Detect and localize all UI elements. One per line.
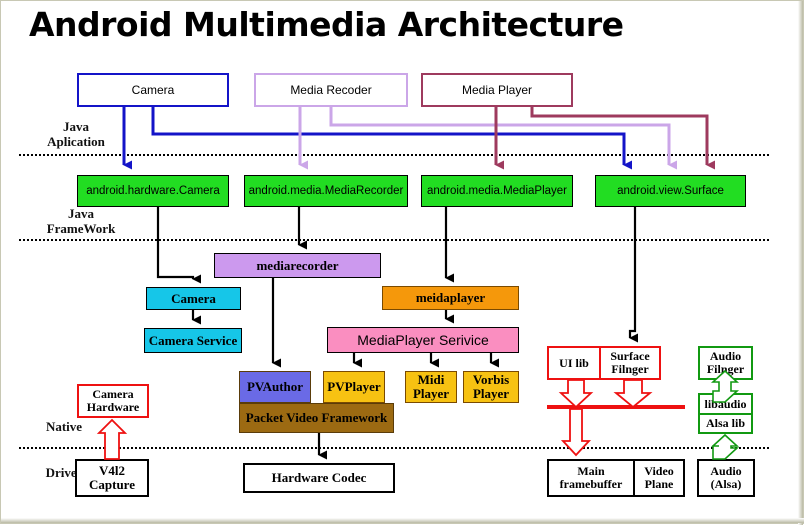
framework-box-android-media-mediaplayer[interactable]: android.media.MediaPlayer bbox=[421, 175, 573, 207]
native-box-label-line2: Hardware bbox=[87, 401, 139, 414]
driver-box-main-framebuffer[interactable]: Main framebuffer bbox=[549, 461, 635, 495]
framework-box-label: android.view.Surface bbox=[617, 185, 724, 197]
layer-label-java-application: Java Aplication bbox=[35, 119, 117, 150]
native-box-label-line1: Vorbis bbox=[473, 373, 509, 387]
native-box-label: Camera Service bbox=[149, 334, 237, 348]
native-box-libaudio-alsa-group[interactable]: libaudio Alsa lib bbox=[698, 393, 753, 434]
native-box-packet-video-framework[interactable]: Packet Video Framework bbox=[239, 403, 394, 433]
native-box-mediaplayer-serivice[interactable]: MediaPlayer Serivice bbox=[327, 327, 519, 353]
layer-label-line2: FrameWork bbox=[35, 221, 127, 236]
native-box-libaudio[interactable]: libaudio bbox=[700, 395, 751, 415]
connector-hwcamera-to-camera-native bbox=[158, 207, 193, 279]
page-title: Android Multimedia Architecture bbox=[29, 5, 624, 44]
connector-v4l2-to-camera-hardware bbox=[99, 420, 125, 459]
native-box-label-line2: Player bbox=[413, 387, 449, 401]
separator-framework-native bbox=[19, 239, 769, 241]
connector-recoder-to-surface bbox=[331, 107, 669, 165]
framework-box-label: android.media.MediaRecorder bbox=[249, 185, 404, 197]
layer-label-line2: Aplication bbox=[35, 134, 117, 149]
diagram-canvas: Android Multimedia Architecture Java Apl… bbox=[0, 0, 804, 524]
layer-label-line1: Java bbox=[35, 206, 127, 221]
native-box-pvplayer[interactable]: PVPlayer bbox=[323, 371, 385, 403]
red-bus-bar bbox=[547, 405, 685, 409]
app-box-camera[interactable]: Camera bbox=[77, 73, 229, 107]
layer-label-native: Native bbox=[29, 419, 99, 434]
connector-surface-to-surface-filnger bbox=[630, 207, 635, 338]
native-box-label-line1: Midi bbox=[418, 373, 445, 387]
page-edge-bottom bbox=[1, 518, 804, 523]
framework-box-label: android.media.MediaPlayer bbox=[427, 185, 567, 197]
native-box-audio-filnger[interactable]: Audio Filnger bbox=[698, 346, 753, 380]
driver-box-audio-alsa[interactable]: Audio (Alsa) bbox=[697, 459, 755, 497]
app-box-media-recoder[interactable]: Media Recoder bbox=[254, 73, 408, 107]
app-box-media-player[interactable]: Media Player bbox=[421, 73, 573, 107]
connector-camera-to-surface bbox=[153, 107, 624, 165]
native-box-label: meidaplayer bbox=[416, 291, 485, 305]
native-box-label: libaudio bbox=[704, 398, 746, 411]
layer-label-line1: Java bbox=[35, 119, 117, 134]
page-edge-right bbox=[798, 1, 803, 525]
driver-box-video-plane[interactable]: Video Plane bbox=[635, 461, 683, 495]
native-box-label-line2: Filnger bbox=[707, 363, 744, 376]
driver-box-label-line1: V4l2 bbox=[99, 464, 125, 478]
app-box-media-recoder-label: Media Recoder bbox=[290, 84, 371, 97]
native-box-vorbis-player[interactable]: Vorbis Player bbox=[463, 371, 519, 403]
driver-box-label: Hardware Codec bbox=[272, 471, 367, 485]
native-box-camera-service[interactable]: Camera Service bbox=[144, 328, 242, 353]
native-box-label-line2: Filnger bbox=[611, 363, 648, 376]
native-box-label: mediarecorder bbox=[256, 259, 338, 273]
native-box-camera[interactable]: Camera bbox=[146, 287, 241, 310]
native-box-label: PVAuthor bbox=[247, 380, 303, 394]
native-box-label: UI lib bbox=[559, 357, 589, 370]
framework-box-android-media-mediarecorder[interactable]: android.media.MediaRecorder bbox=[244, 175, 408, 207]
native-box-label: MediaPlayer Serivice bbox=[357, 333, 489, 348]
driver-box-hardware-codec[interactable]: Hardware Codec bbox=[243, 463, 395, 493]
connector-ui-lib-to-bus bbox=[561, 380, 591, 407]
native-box-pvauthor[interactable]: PVAuthor bbox=[239, 371, 311, 403]
driver-box-label-line2: Plane bbox=[645, 478, 674, 491]
native-box-surface-filnger[interactable]: Surface Filnger bbox=[601, 348, 659, 378]
connector-player-to-surface bbox=[532, 107, 707, 165]
driver-box-v4l2-capture[interactable]: V4l2 Capture bbox=[75, 459, 149, 497]
native-box-ui-surface-group[interactable]: UI lib Surface Filnger bbox=[547, 346, 661, 380]
native-box-label: Packet Video Framework bbox=[246, 411, 388, 425]
app-box-camera-label: Camera bbox=[132, 84, 175, 97]
native-box-label: Alsa lib bbox=[706, 417, 745, 430]
driver-box-framebuffer-group[interactable]: Main framebuffer Video Plane bbox=[547, 459, 685, 497]
native-box-label: PVPlayer bbox=[327, 380, 380, 394]
separator-native-driver bbox=[19, 447, 769, 449]
native-box-label: Camera bbox=[171, 292, 216, 306]
native-box-mediarecorder[interactable]: mediarecorder bbox=[214, 253, 381, 278]
framework-box-label: android.hardware.Camera bbox=[86, 185, 220, 197]
framework-box-android-hardware-camera[interactable]: android.hardware.Camera bbox=[77, 175, 229, 207]
layer-label-line1: Native bbox=[29, 419, 99, 434]
native-box-meidaplayer[interactable]: meidaplayer bbox=[382, 286, 519, 310]
native-box-ui-lib[interactable]: UI lib bbox=[549, 348, 601, 378]
driver-box-label-line2: Capture bbox=[89, 478, 135, 492]
connector-surface-filnger-to-bus bbox=[616, 380, 650, 407]
driver-box-label-line2: (Alsa) bbox=[711, 478, 742, 491]
driver-box-label-line2: framebuffer bbox=[560, 478, 623, 491]
native-box-label-line2: Player bbox=[473, 387, 509, 401]
native-box-alsa-lib[interactable]: Alsa lib bbox=[700, 415, 751, 432]
app-box-media-player-label: Media Player bbox=[462, 84, 532, 97]
native-box-midi-player[interactable]: Midi Player bbox=[405, 371, 457, 403]
framework-box-android-view-surface[interactable]: android.view.Surface bbox=[595, 175, 746, 207]
separator-application-framework bbox=[19, 154, 769, 156]
layer-label-java-framework: Java FrameWork bbox=[35, 206, 127, 237]
native-box-camera-hardware[interactable]: Camera Hardware bbox=[77, 384, 149, 418]
